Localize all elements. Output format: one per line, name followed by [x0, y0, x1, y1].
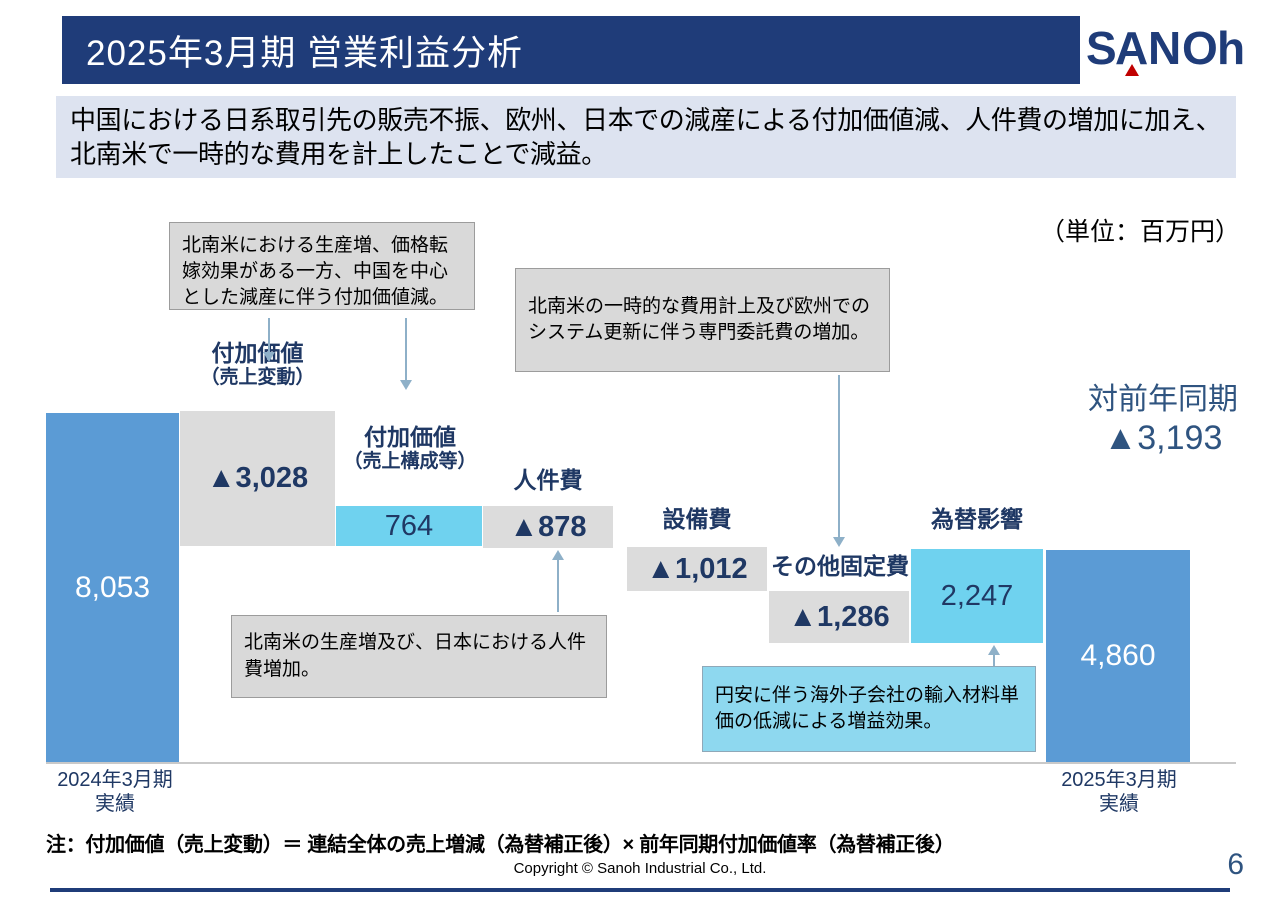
bar-label-other-fixed-cost: その他固定費: [760, 553, 920, 580]
bar-fy2025-actual: 4,860: [1046, 550, 1190, 762]
callout-fx: 円安に伴う海外子会社の輸入材料単価の低減による増益効果。: [702, 666, 1036, 752]
sanoh-logo: S A N O h: [1086, 22, 1246, 78]
bar-label-labor-cost: 人件費: [483, 467, 613, 494]
yoy-value: ▲3,193: [1088, 418, 1238, 459]
bar-value-1012: ▲1,012: [646, 553, 747, 586]
summary-text: 中国における日系取引先の販売不振、欧州、日本での減産による付加価値減、人件費の増…: [56, 99, 1236, 176]
bar-value-764: 764: [385, 510, 433, 543]
bar-equipment-cost: ▲1,012: [627, 547, 767, 591]
bar-labor-cost: ▲878: [483, 506, 613, 548]
page-title: 2025年3月期 営業利益分析: [62, 25, 523, 76]
bar-label-equipment-cost: 設備費: [627, 506, 767, 533]
bar-value-1286: ▲1,286: [788, 601, 889, 634]
svg-text:N: N: [1148, 22, 1179, 74]
bar-value-added-mix: 764: [336, 506, 482, 546]
callout-labor: 北南米の生産増及び、日本における人件費増加。: [231, 615, 607, 698]
bar-value-fy2025: 4,860: [1080, 639, 1155, 673]
bar-label-value-added-mix: 付加価値 （売上構成等）: [330, 424, 490, 474]
copyright: Copyright © Sanoh Industrial Co., Ltd.: [0, 860, 1280, 877]
axis-caption-right: 2025年3月期 実績: [1044, 768, 1194, 816]
summary-banner: 中国における日系取引先の販売不振、欧州、日本での減産による付加価値減、人件費の増…: [56, 96, 1236, 178]
bar-fy2024-actual: 8,053: [46, 413, 179, 762]
bar-value-3028: ▲3,028: [207, 462, 308, 495]
yoy-label: 対前年同期: [1088, 383, 1238, 418]
bar-label-fx-impact: 為替影響: [911, 506, 1043, 533]
callout-value-added: 北南米における生産増、価格転嫁効果がある一方、中国を中心とした減産に伴う付加価値…: [169, 222, 475, 310]
axis-caption-left: 2024年3月期 実績: [40, 768, 190, 816]
bottom-rule: [50, 888, 1230, 892]
bar-other-fixed-cost: ▲1,286: [769, 591, 909, 643]
callout-other-fixed: 北南米の一時的な費用計上及び欧州でのシステム更新に伴う専門委託費の増加。: [515, 268, 890, 372]
chart-baseline: [46, 762, 1236, 764]
bar-fx-impact: 2,247: [911, 549, 1043, 643]
slide: 2025年3月期 営業利益分析 S A N O h 中国における日系取引先の販売…: [0, 0, 1280, 904]
footnote: 注：付加価値（売上変動）＝ 連結全体の売上増減（為替補正後）× 前年同期付加価値…: [46, 828, 954, 857]
title-bar: 2025年3月期 営業利益分析: [62, 16, 1080, 84]
yoy-summary: 対前年同期 ▲3,193: [1088, 383, 1238, 458]
bar-value-878: ▲878: [509, 511, 586, 544]
bar-value-fy2024: 8,053: [75, 571, 150, 605]
page-number: 6: [1227, 848, 1244, 882]
svg-text:h: h: [1217, 22, 1243, 74]
svg-text:S: S: [1086, 22, 1115, 74]
bar-label-value-added-sales-change: 付加価値 （売上変動）: [180, 340, 335, 390]
bar-value-2247: 2,247: [941, 580, 1014, 613]
svg-text:O: O: [1182, 22, 1216, 74]
bar-value-added-sales-change: ▲3,028: [180, 411, 335, 546]
